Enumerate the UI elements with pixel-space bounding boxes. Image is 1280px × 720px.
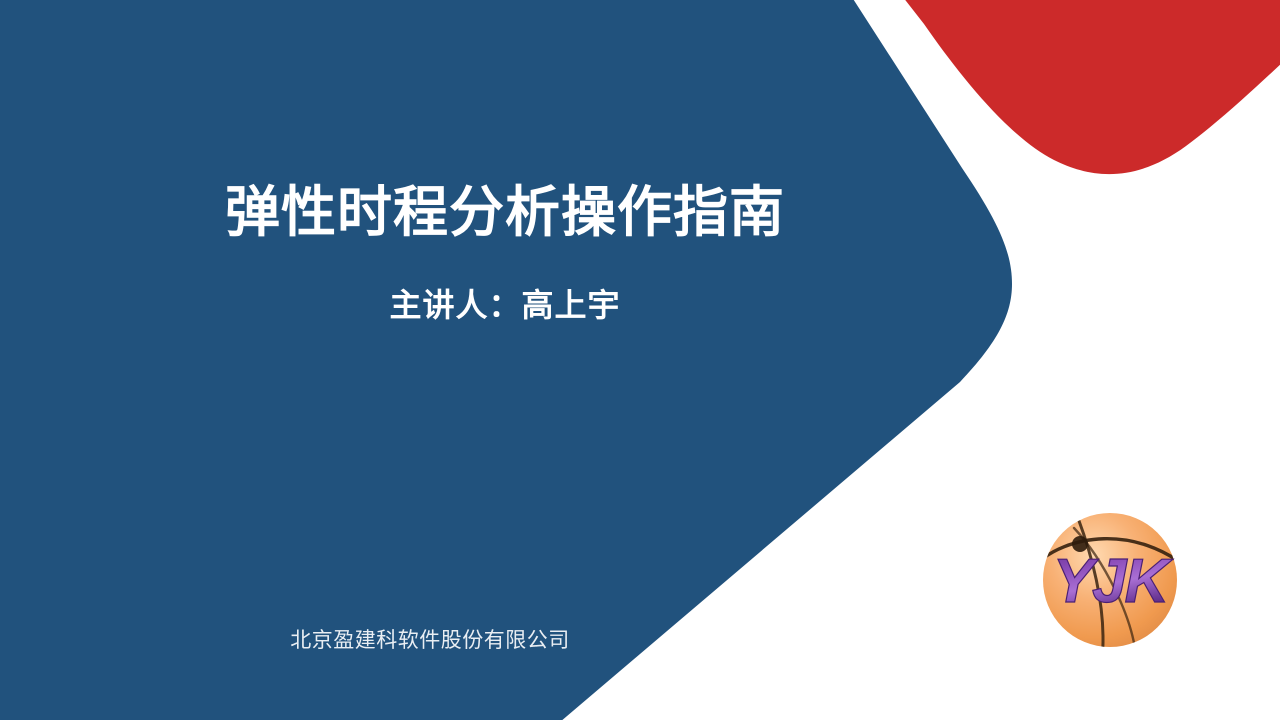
presenter-subtitle: 主讲人：高上宇 xyxy=(0,286,1010,324)
yjk-logo: YJK xyxy=(1040,510,1182,652)
blue-shape xyxy=(0,0,1012,720)
page-title: 弹性时程分析操作指南 xyxy=(0,182,1010,244)
presentation-slide: 弹性时程分析操作指南 主讲人：高上宇 北京盈建科软件股份有限公司 xyxy=(0,0,1280,720)
logo-letters: YJK xyxy=(1053,547,1174,616)
company-footer: 北京盈建科软件股份有限公司 xyxy=(0,628,860,654)
